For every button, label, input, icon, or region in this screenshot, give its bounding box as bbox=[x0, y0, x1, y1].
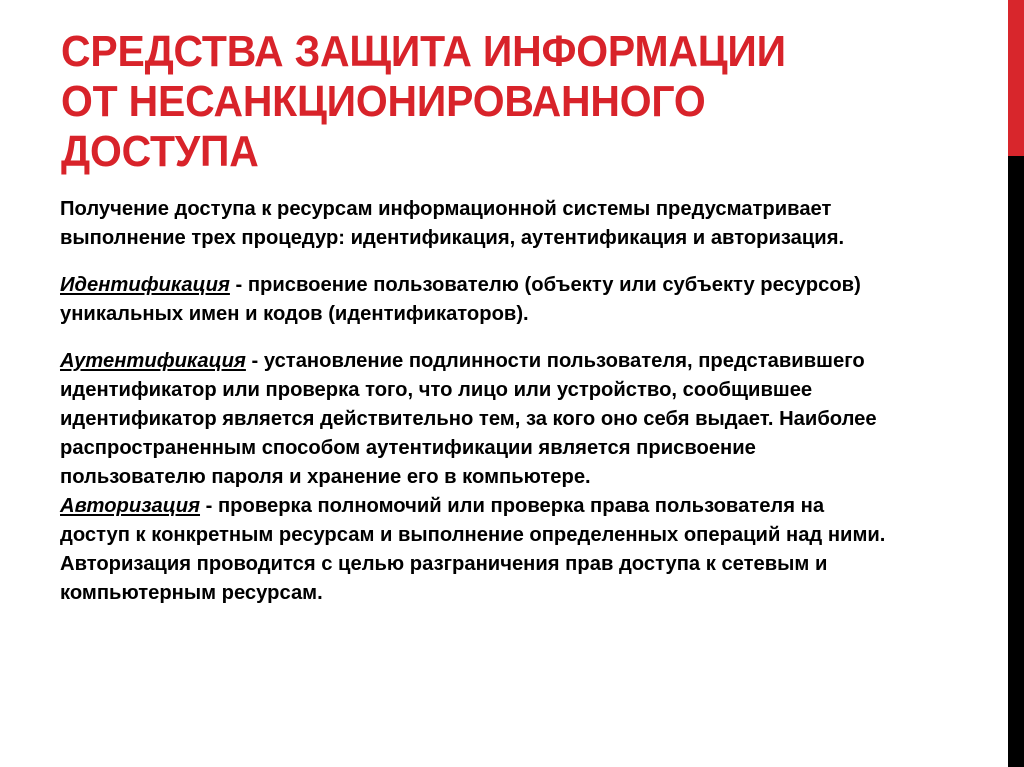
right-edge-accent-bar-black bbox=[1008, 156, 1024, 767]
term-separator-authentication: - bbox=[246, 349, 264, 372]
right-edge-accent-bar-red bbox=[1008, 0, 1024, 156]
term-identification: Идентификация bbox=[60, 273, 230, 296]
term-separator-identification: - bbox=[230, 273, 248, 296]
definition-paragraph-authorization: Авторизация - проверка полномочий или пр… bbox=[60, 491, 885, 607]
term-authentication: Аутентификация bbox=[60, 349, 246, 372]
term-separator-authorization: - bbox=[200, 494, 218, 517]
definition-paragraph-identification: Идентификация - присвоение пользователю … bbox=[60, 270, 885, 328]
slide-title-line-2: ОТ НЕСАНКЦИОНИРОВАННОГО bbox=[61, 77, 912, 127]
term-authorization: Авторизация bbox=[60, 494, 200, 517]
slide-title: СРЕДСТВА ЗАЩИТА ИНФОРМАЦИИ ОТ НЕСАНКЦИОН… bbox=[61, 27, 912, 177]
definition-paragraph-authentication: Аутентификация - установление подлинност… bbox=[60, 346, 885, 491]
slide-canvas: СРЕДСТВА ЗАЩИТА ИНФОРМАЦИИ ОТ НЕСАНКЦИОН… bbox=[0, 0, 1024, 767]
intro-paragraph: Получение доступа к ресурсам информацион… bbox=[60, 194, 885, 252]
slide-title-line-3: ДОСТУПА bbox=[61, 127, 912, 177]
slide-title-line-1: СРЕДСТВА ЗАЩИТА ИНФОРМАЦИИ bbox=[61, 27, 912, 77]
slide-body: Получение доступа к ресурсам информацион… bbox=[60, 194, 885, 607]
